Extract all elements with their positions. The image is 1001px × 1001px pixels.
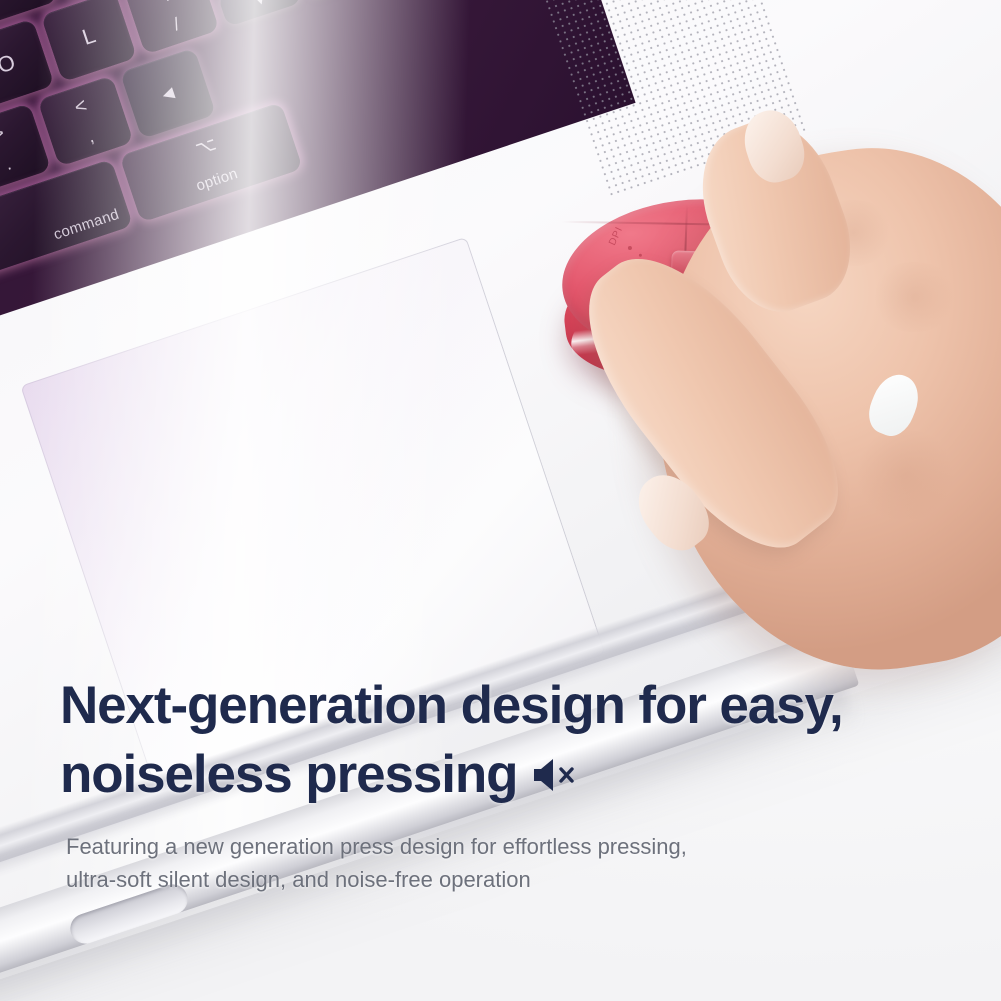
key-label: command	[52, 206, 122, 244]
key-glyph: O	[0, 39, 48, 88]
key-less-than[interactable]: < ,	[37, 75, 133, 166]
subtitle-line-1: Featuring a new generation press design …	[66, 830, 960, 863]
key-glyph-secondary: .	[0, 142, 49, 187]
knuckle	[850, 430, 960, 520]
subtitle: Featuring a new generation press design …	[66, 830, 960, 897]
key-arrow-down[interactable]: ▼	[218, 0, 302, 27]
product-marketing-image: { [ " ' return P : ; ⇧ shift	[0, 0, 1001, 1001]
key-l[interactable]: L	[41, 0, 137, 82]
headline: Next-generation design for easy, noisele…	[60, 672, 960, 810]
arrow-left-icon: ◀	[128, 73, 208, 115]
subtitle-line-2: ultra-soft silent design, and noise-free…	[66, 863, 960, 896]
headline-line-2: noiseless pressing	[60, 741, 517, 810]
arrow-down-icon: ▼	[220, 0, 299, 19]
headline-line-2-row: noiseless pressing	[60, 741, 960, 810]
marketing-copy: Next-generation design for easy, noisele…	[60, 672, 960, 897]
hand	[600, 0, 1001, 720]
speaker-mute-icon	[531, 755, 575, 795]
arrow-key-cluster: ▲ ▼	[206, 0, 302, 27]
key-glyph: P	[0, 0, 51, 4]
key-question[interactable]: ? /	[123, 0, 219, 55]
key-glyph: L	[48, 12, 130, 61]
key-arrow-left[interactable]: ◀	[120, 48, 216, 139]
knuckle	[868, 262, 960, 332]
headline-line-1: Next-generation design for easy,	[60, 676, 843, 735]
